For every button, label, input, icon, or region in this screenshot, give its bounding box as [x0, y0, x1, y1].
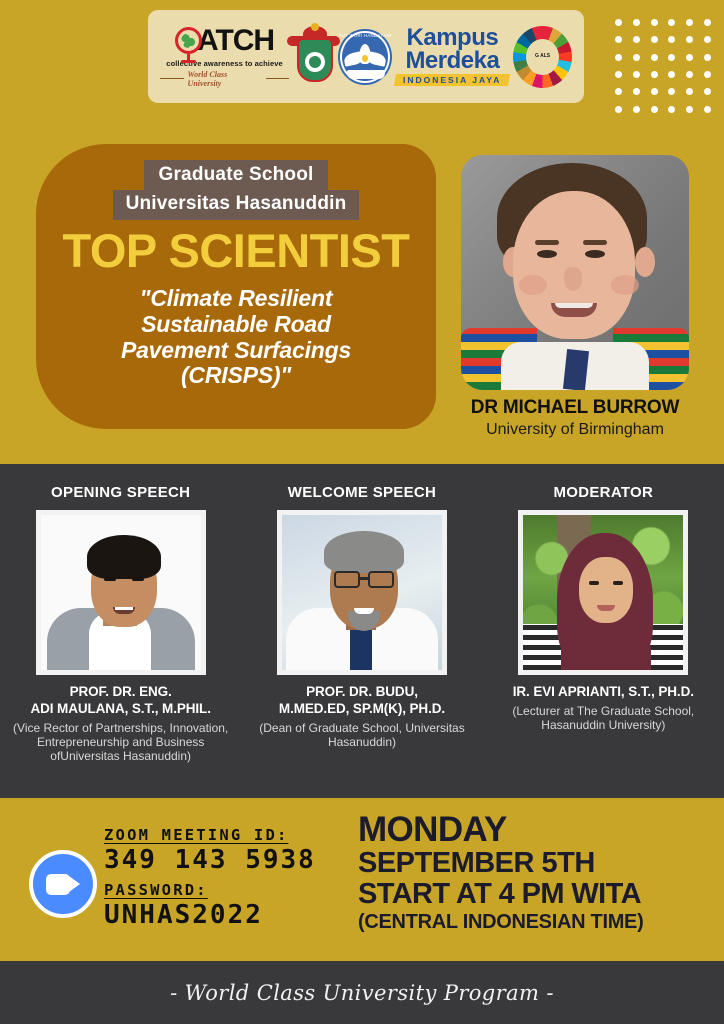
role-name-line2: ADI MAULANA, S.T., M.PHIL.	[0, 701, 241, 718]
globe-icon	[175, 27, 202, 54]
hero-subtitle-line1: "Climate Resilient	[36, 286, 436, 312]
zoom-password-value: UNHAS2022	[104, 901, 354, 930]
kampus-merdeka-line2: Merdeka	[405, 50, 499, 72]
poster-footer: - World Class University Program -	[0, 961, 724, 1024]
hero-title: TOP SCIENTIST	[36, 227, 436, 274]
zoom-meeting-details: ZOOM MEETING ID: 349 143 5938 PASSWORD: …	[104, 826, 354, 930]
speaker-photo	[461, 155, 689, 390]
poster-root: ATCH collective awareness to achieve Wor…	[0, 0, 724, 1024]
schedule-timezone: (CENTRAL INDONESIAN TIME)	[358, 911, 718, 933]
zoom-camera-icon	[29, 850, 97, 918]
catch-word-text: ATCH	[197, 26, 274, 56]
zoom-password-label: PASSWORD:	[104, 881, 354, 899]
partner-logo-bar: ATCH collective awareness to achieve Wor…	[148, 10, 584, 103]
kampus-merdeka-ribbon: INDONESIA JAYA	[394, 74, 511, 86]
zoom-id-value: 349 143 5938	[104, 846, 354, 875]
speaker-affiliation: University of Birmingham	[440, 421, 710, 439]
role-description: (Dean of Graduate School, Universitas Ha…	[241, 721, 482, 749]
role-welcome-speech: WELCOME SPEECH PROF. DR. BUDU, M.MED.ED,…	[241, 464, 482, 763]
speaker-name: DR MICHAEL BURROW	[440, 397, 710, 419]
rule-right	[266, 78, 290, 80]
hero-chips: Graduate School Universitas Hasanuddin	[36, 160, 436, 220]
schedule-block: MONDAY SEPTEMBER 5TH START AT 4 PM WITA …	[358, 812, 718, 933]
schedule-day: MONDAY	[358, 812, 718, 848]
role-name: PROF. DR. ENG. ADI MAULANA, S.T., M.PHIL…	[0, 684, 241, 718]
hero-subtitle-line4: (CRISPS)"	[36, 363, 436, 389]
role-name: PROF. DR. BUDU, M.MED.ED, SP.M(K), PH.D.	[241, 684, 482, 718]
role-name-line2: M.MED.ED, SP.M(K), PH.D.	[241, 701, 482, 718]
role-title: OPENING SPEECH	[0, 484, 241, 501]
role-description: (Lecturer at The Graduate School, Hasanu…	[483, 704, 724, 732]
catch-subtitle-row: World Class University	[160, 70, 289, 88]
hero-subtitle: "Climate Resilient Sustainable Road Pave…	[36, 286, 436, 389]
role-name: IR. EVI APRIANTI, S.T., PH.D.	[483, 684, 724, 701]
schedule-date: SEPTEMBER 5TH	[358, 848, 718, 879]
role-title: WELCOME SPEECH	[241, 484, 482, 501]
hero-subtitle-line2: Sustainable Road	[36, 312, 436, 338]
role-opening-speech: OPENING SPEECH PROF. DR. ENG. ADI MAULAN…	[0, 464, 241, 763]
sdg-center-text: G ALS	[535, 54, 550, 59]
kemdikbud-logo: TUT WURI HANDAYANI	[338, 29, 391, 85]
footer-text: - World Class University Program -	[170, 981, 554, 1005]
unhas-crest-logo	[289, 26, 338, 88]
catch-wordmark: ATCH	[175, 26, 274, 56]
participants-band: OPENING SPEECH PROF. DR. ENG. ADI MAULAN…	[0, 464, 724, 798]
role-name-line1: PROF. DR. BUDU,	[241, 684, 482, 701]
catch-logo: ATCH collective awareness to achieve Wor…	[160, 26, 289, 88]
sdg-wheel-logo: G ALS	[513, 26, 572, 88]
chip-graduate-school: Graduate School	[144, 160, 327, 191]
rule-left	[160, 78, 184, 80]
role-photo	[36, 510, 206, 675]
hero-panel: Graduate School Universitas Hasanuddin T…	[36, 144, 436, 429]
role-photo	[518, 510, 688, 675]
role-name-line1: PROF. DR. ENG.	[0, 684, 241, 701]
hero-subtitle-line3: Pavement Surfacings	[36, 338, 436, 364]
catch-subtitle: World Class University	[188, 70, 262, 88]
role-moderator: MODERATOR IR. EVI APRIANTI, S.T., PH.D. …	[483, 464, 724, 763]
zoom-id-label: ZOOM MEETING ID:	[104, 826, 354, 844]
kemdikbud-motto: TUT WURI HANDAYANI	[338, 33, 391, 38]
role-photo	[277, 510, 447, 675]
roles-row: OPENING SPEECH PROF. DR. ENG. ADI MAULAN…	[0, 464, 724, 763]
role-name-line2: IR. EVI APRIANTI, S.T., PH.D.	[483, 684, 724, 701]
chip-universitas-hasanuddin: Universitas Hasanuddin	[113, 190, 360, 220]
kampus-merdeka-logo: Kampus Merdeka INDONESIA JAYA	[392, 27, 514, 85]
schedule-time: START AT 4 PM WITA	[358, 879, 718, 910]
decorative-dot-grid	[610, 14, 716, 118]
role-title: MODERATOR	[483, 484, 724, 501]
role-description: (Vice Rector of Partnerships, Innovation…	[0, 721, 241, 763]
